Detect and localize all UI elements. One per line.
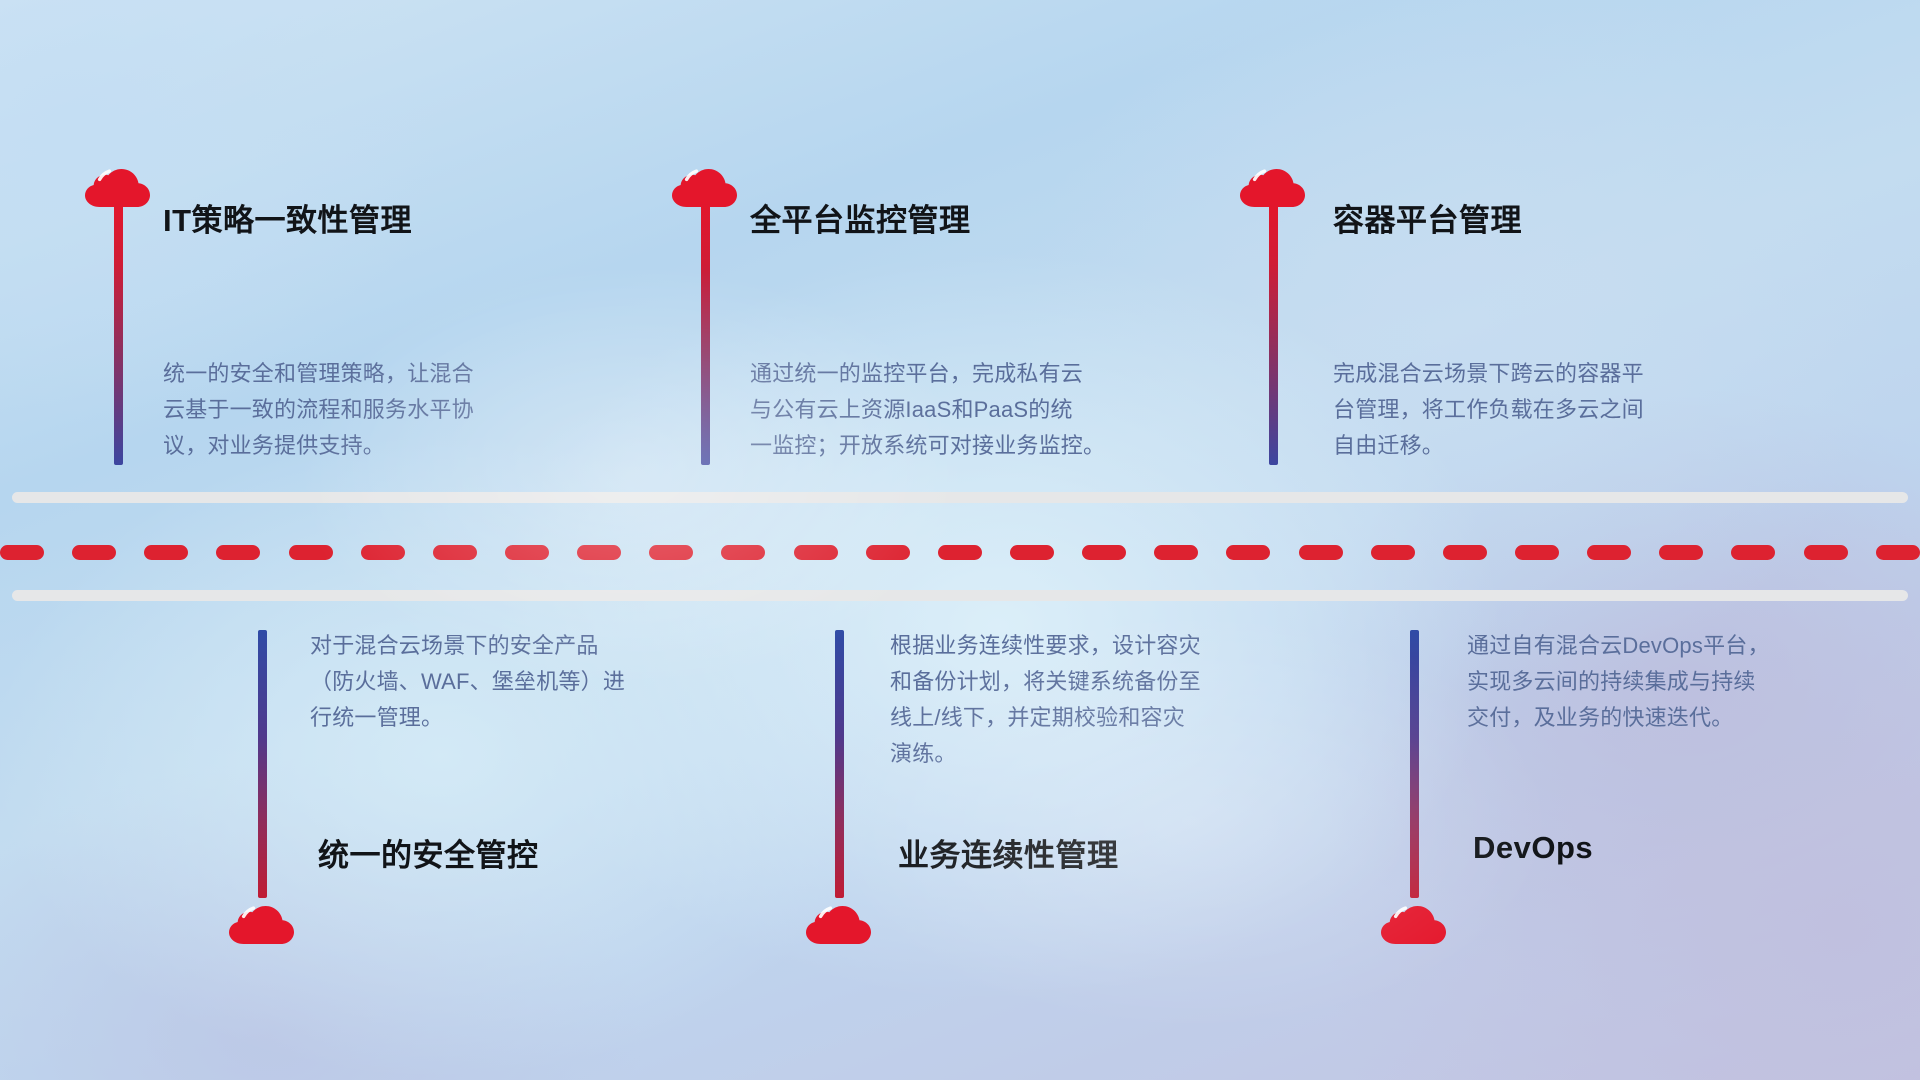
card-body: 对于混合云场景下的安全产品 （防火墙、WAF、堡垒机等）进 行统一管理。: [310, 628, 730, 736]
card-body: 统一的安全和管理策略，让混合 云基于一致的流程和服务水平协 议，对业务提供支持。: [163, 356, 563, 464]
dash-segment: [144, 545, 188, 560]
dash-segment: [1731, 545, 1775, 560]
connector-bar: [835, 630, 844, 898]
red-dashed-separator: [0, 545, 1920, 560]
infographic-canvas: IT策略一致性管理 统一的安全和管理策略，让混合 云基于一致的流程和服务水平协 …: [0, 0, 1920, 1080]
dash-segment: [289, 545, 333, 560]
cloud-icon: [1381, 895, 1447, 945]
dash-segment: [433, 545, 477, 560]
card-body: 通过统一的监控平台，完成私有云 与公有云上资源IaaS和PaaS的统 一监控；开…: [750, 356, 1170, 464]
connector-bar: [114, 200, 123, 465]
cloud-icon: [229, 895, 295, 945]
dash-segment: [721, 545, 765, 560]
cloud-icon: [806, 895, 872, 945]
dash-segment: [505, 545, 549, 560]
dash-segment: [1226, 545, 1270, 560]
card-body: 通过自有混合云DevOps平台， 实现多云间的持续集成与持续 交付，及业务的快速…: [1467, 628, 1887, 736]
connector-bar: [258, 630, 267, 898]
dash-segment: [794, 545, 838, 560]
card-title: 容器平台管理: [1333, 195, 1522, 240]
upper-white-rule: [12, 492, 1908, 503]
dash-segment: [72, 545, 116, 560]
dash-segment: [361, 545, 405, 560]
dash-segment: [1515, 545, 1559, 560]
card-title: 业务连续性管理: [898, 830, 1119, 875]
connector-bar: [1410, 630, 1419, 898]
dash-segment: [938, 545, 982, 560]
dash-segment: [866, 545, 910, 560]
dash-segment: [577, 545, 621, 560]
dash-segment: [216, 545, 260, 560]
card-body: 根据业务连续性要求，设计容灾 和备份计划，将关键系统备份至 线上/线下，并定期校…: [890, 628, 1320, 772]
card-title: DevOps: [1473, 830, 1593, 866]
dash-segment: [1587, 545, 1631, 560]
dash-segment: [1659, 545, 1703, 560]
connector-bar: [701, 200, 710, 465]
dash-segment: [1299, 545, 1343, 560]
card-title: IT策略一致性管理: [163, 195, 412, 240]
card-body: 完成混合云场景下跨云的容器平 台管理，将工作负载在多云之间 自由迁移。: [1333, 356, 1753, 464]
dash-segment: [1443, 545, 1487, 560]
dash-segment: [1082, 545, 1126, 560]
connector-bar: [1269, 200, 1278, 465]
dash-segment: [1804, 545, 1848, 560]
dash-segment: [1010, 545, 1054, 560]
dash-segment: [1371, 545, 1415, 560]
card-title: 全平台监控管理: [750, 195, 971, 240]
dash-segment: [649, 545, 693, 560]
dash-segment: [0, 545, 44, 560]
dash-segment: [1876, 545, 1920, 560]
dash-segment: [1154, 545, 1198, 560]
card-title: 统一的安全管控: [318, 830, 539, 875]
lower-white-rule: [12, 590, 1908, 601]
